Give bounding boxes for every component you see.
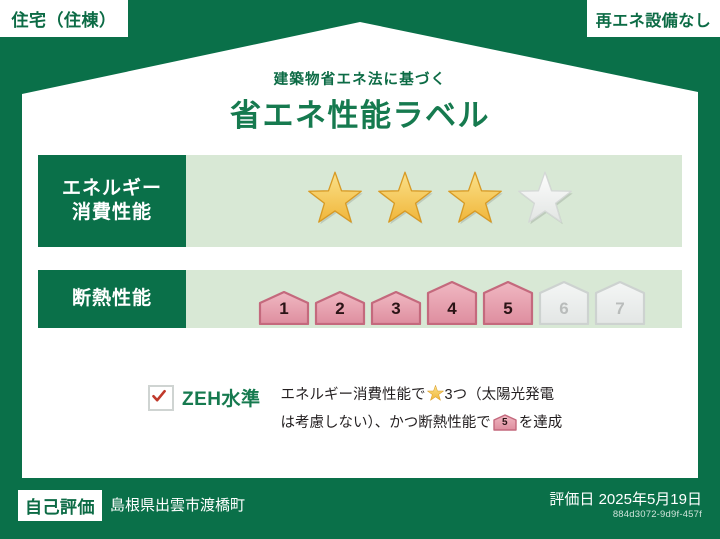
energy-performance-label-line2: 消費性能 [72, 201, 152, 225]
insulation-performance-body: 1234567 [186, 270, 682, 328]
insulation-grade-badge: 6 [538, 281, 590, 325]
energy-performance-label-line1: エネルギー [62, 177, 162, 201]
insulation-grade-badge: 1 [258, 291, 310, 325]
insulation-grade-badge: 4 [426, 281, 478, 325]
insulation-performance-label: 断熱性能 [38, 270, 186, 328]
insulation-grade-badge: 2 [314, 291, 366, 325]
grade-badge-value: 4 [447, 299, 456, 325]
label-subtitle: 建築物省エネ法に基づく [0, 68, 720, 89]
grade-badge-value: 1 [279, 299, 288, 325]
star-icon [374, 171, 436, 231]
zeh-description-line1-pre: エネルギー消費性能で [281, 387, 426, 403]
check-icon [151, 388, 167, 404]
zeh-description-line2-post: を達成 [519, 415, 563, 431]
insulation-grade-scale: 1234567 [258, 267, 646, 331]
grade-badge-value: 7 [615, 299, 624, 325]
star-rating [304, 171, 576, 231]
insulation-grade-badge: 7 [594, 281, 646, 325]
insulation-grade-badge: 3 [370, 291, 422, 325]
insulation-grade-badge: 5 [482, 281, 534, 325]
star-icon [427, 385, 444, 402]
energy-performance-row: エネルギー 消費性能 [38, 155, 682, 247]
footer-bar: 自己評価 島根県出雲市渡橋町 評価日 2025年5月19日 884d3072-9… [0, 478, 720, 539]
inline-grade-badge-value: 5 [493, 414, 517, 431]
inline-grade-badge: 5 [493, 414, 517, 431]
zeh-description-line2: は考慮しない）、かつ断熱性能で5を達成 [281, 411, 563, 436]
star-icon [444, 171, 506, 231]
zeh-description-line2-pre: は考慮しない）、かつ断熱性能で [281, 415, 491, 431]
evaluation-date: 評価日 2025年5月19日 [549, 488, 702, 509]
building-type-tag-label: 住宅（住棟） [12, 6, 117, 31]
zeh-checkbox[interactable] [148, 385, 174, 411]
energy-performance-body [186, 155, 682, 247]
zeh-standard-label: ZEH水準 [182, 384, 261, 411]
label-canvas: 住宅（住棟） 再エネ設備なし 建築物省エネ法に基づく 省エネ性能ラベル エネルギ… [0, 0, 720, 539]
renewable-equipment-tag: 再エネ設備なし [587, 0, 720, 37]
zeh-description-line1: エネルギー消費性能で3つ（太陽光発電 [281, 383, 563, 411]
star-icon [304, 171, 366, 231]
grade-badge-value: 6 [559, 299, 568, 325]
grade-badge-value: 3 [391, 299, 400, 325]
zeh-description-line1-post: 3つ（太陽光発電 [445, 387, 555, 403]
insulation-performance-row: 断熱性能 1234567 [38, 270, 682, 328]
building-type-tag: 住宅（住棟） [0, 0, 128, 37]
zeh-description: エネルギー消費性能で3つ（太陽光発電 は考慮しない）、かつ断熱性能で5を達成 [281, 383, 563, 436]
self-evaluation-badge: 自己評価 [18, 490, 102, 521]
inline-star-icon [427, 385, 444, 411]
label-title: 省エネ性能ラベル [0, 90, 720, 135]
grade-badge-value: 5 [503, 299, 512, 325]
evaluation-id: 884d3072-9d9f-457f [613, 509, 702, 520]
grade-badge-value: 2 [335, 299, 344, 325]
address-text: 島根県出雲市渡橋町 [110, 494, 245, 515]
renewable-equipment-tag-label: 再エネ設備なし [596, 7, 712, 31]
energy-performance-label: エネルギー 消費性能 [38, 155, 186, 247]
star-icon [514, 171, 576, 231]
zeh-standard-block: ZEH水準 エネルギー消費性能で3つ（太陽光発電 は考慮しない）、かつ断熱性能で… [148, 383, 562, 436]
insulation-performance-label-line1: 断熱性能 [72, 287, 152, 311]
